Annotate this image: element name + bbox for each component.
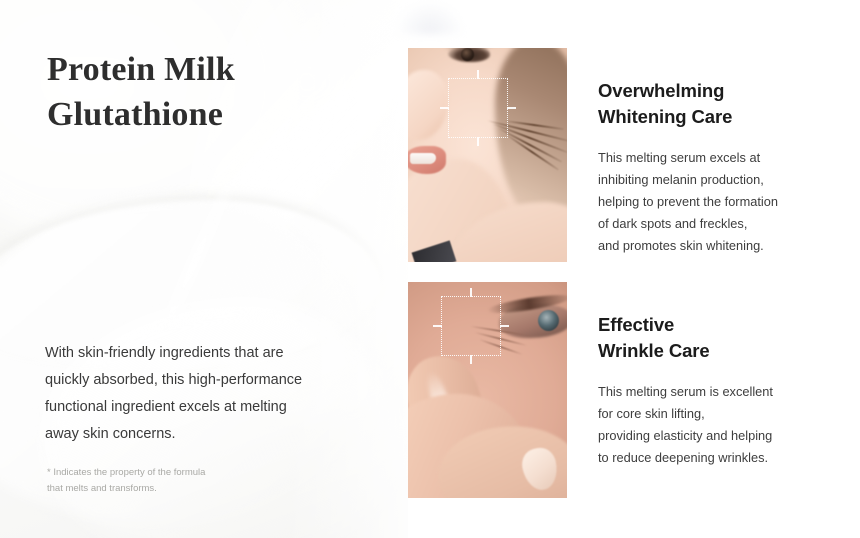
photo-finger-eye-corner-closeup xyxy=(408,282,567,498)
reticle-tick-right xyxy=(500,325,509,326)
reticle-tick-top xyxy=(470,288,471,297)
feature-2-body: This melting serum is excellent for core… xyxy=(598,381,848,469)
background-wisp xyxy=(395,0,465,34)
reticle-tick-right xyxy=(507,107,516,108)
reticle-tick-left xyxy=(433,325,442,326)
feature-wrinkle-care: Effective Wrinkle Care This melting seru… xyxy=(598,312,848,469)
focus-reticle-icon xyxy=(441,296,501,356)
feature-2-heading: Effective Wrinkle Care xyxy=(598,312,848,364)
photo-model-cheek-closeup xyxy=(408,48,567,262)
reticle-tick-bottom xyxy=(470,355,471,364)
feature-1-body: This melting serum excels at inhibiting … xyxy=(598,147,848,257)
teeth xyxy=(410,153,436,164)
lead-description: With skin-friendly ingredients that are … xyxy=(45,340,375,448)
reticle-tick-top xyxy=(477,70,478,79)
reticle-tick-left xyxy=(440,107,449,108)
product-feature-banner: Protein Milk Glutathione With skin-frien… xyxy=(0,0,860,538)
focus-reticle-icon xyxy=(448,78,508,138)
iris xyxy=(461,48,474,61)
footnote-disclaimer: * Indicates the property of the formula … xyxy=(47,465,347,497)
page-title: Protein Milk Glutathione xyxy=(47,47,235,137)
feature-1-heading: Overwhelming Whitening Care xyxy=(598,78,848,130)
feature-whitening-care: Overwhelming Whitening Care This melting… xyxy=(598,78,848,257)
reticle-tick-bottom xyxy=(477,137,478,146)
iris xyxy=(538,310,559,331)
